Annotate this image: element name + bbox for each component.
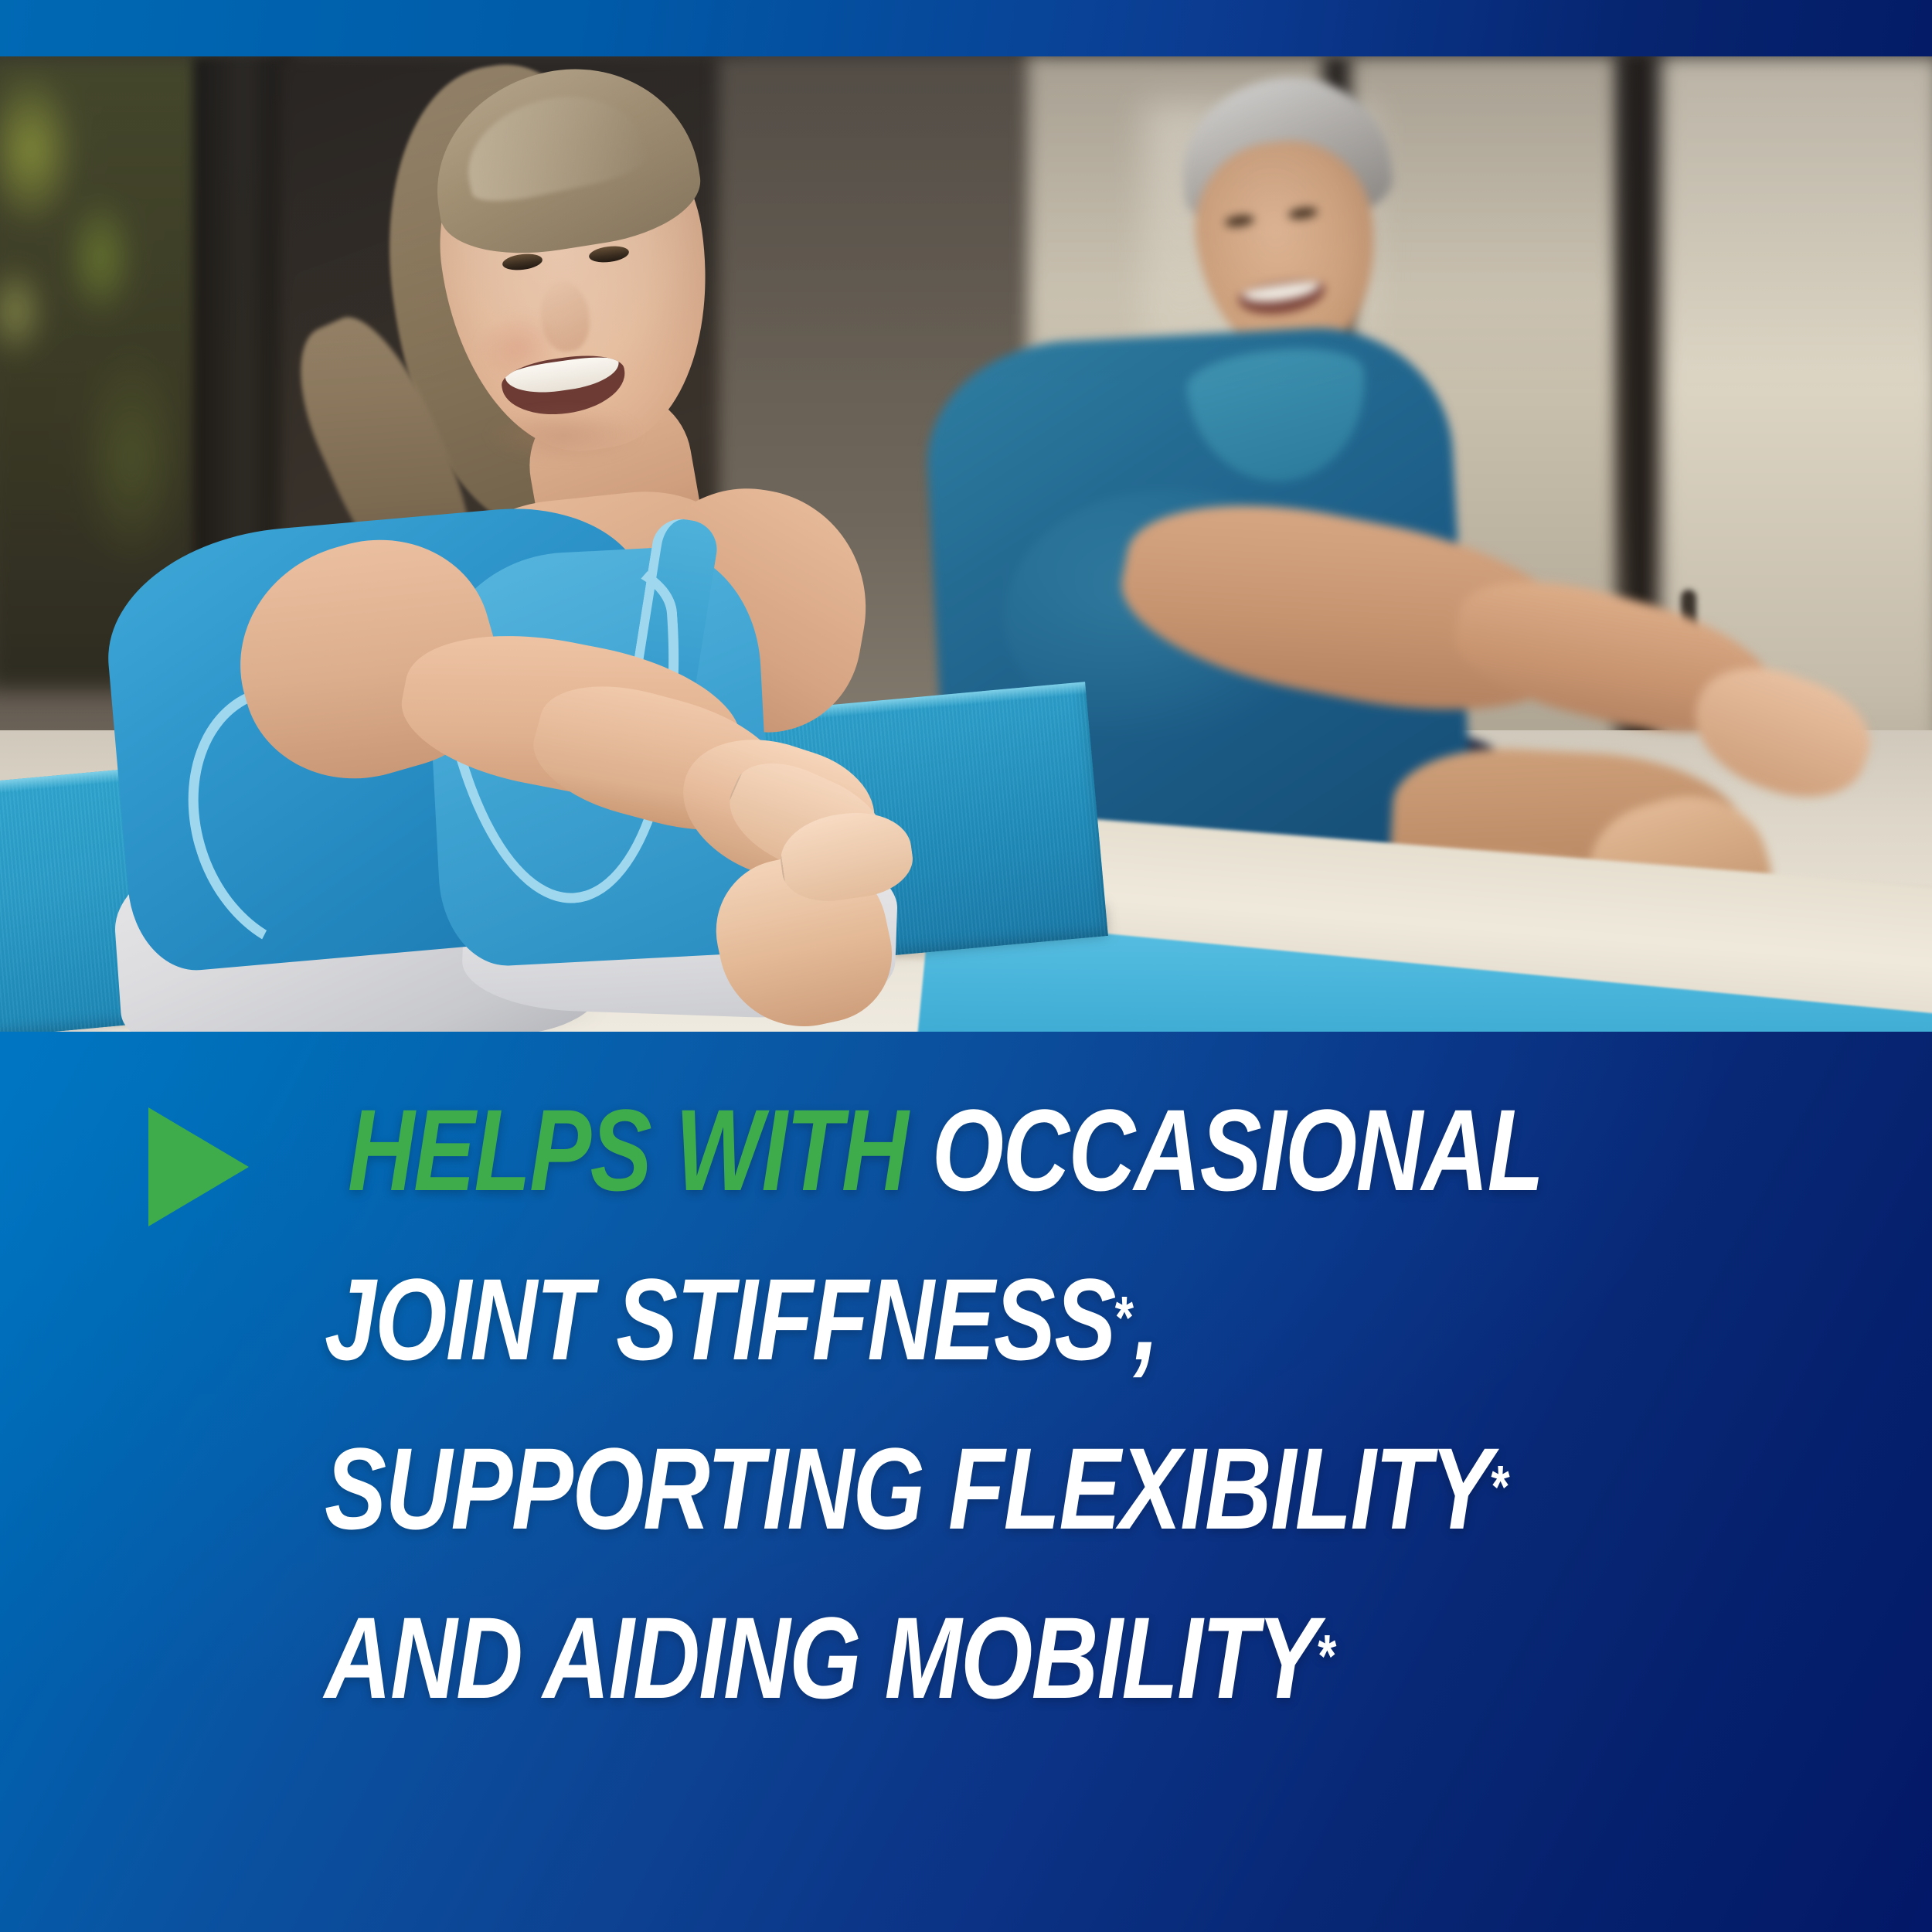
headline-occasional: OCCASIONAL — [932, 1085, 1543, 1215]
headline-supporting-flexibility: SUPPORTING FLEXIBILITY — [325, 1423, 1491, 1553]
asterisk-line-2: * — [1115, 1284, 1134, 1352]
play-triangle-icon — [148, 1107, 249, 1226]
asterisk-line-4: * — [1318, 1622, 1336, 1690]
woman-chin-shadow — [487, 408, 641, 462]
top-blue-strip — [0, 0, 1932, 56]
headline-panel: HELPS WITH OCCASIONAL JOINT STIFFNESS*, … — [0, 1032, 1932, 1932]
woman-subject — [0, 56, 1082, 1032]
comma-line-2: , — [1134, 1254, 1159, 1384]
promo-canvas: HELPS WITH OCCASIONAL JOINT STIFFNESS*, … — [0, 0, 1932, 1932]
headline-joint-stiffness: JOINT STIFFNESS — [325, 1254, 1115, 1384]
headline-line-3: SUPPORTING FLEXIBILITY* — [325, 1430, 1510, 1546]
headline-line-1: HELPS WITH OCCASIONAL — [348, 1092, 1543, 1208]
headline-block: HELPS WITH OCCASIONAL JOINT STIFFNESS*, … — [0, 1032, 1932, 1932]
headline-line-4: AND AIDING MOBILITY* — [325, 1600, 1336, 1716]
headline-helps-with: HELPS WITH — [348, 1085, 907, 1215]
lifestyle-photo — [0, 56, 1932, 1032]
headline-aiding-mobility: AND AIDING MOBILITY — [325, 1593, 1318, 1723]
headline-line-2: JOINT STIFFNESS*, — [325, 1261, 1159, 1377]
asterisk-line-3: * — [1491, 1453, 1509, 1521]
